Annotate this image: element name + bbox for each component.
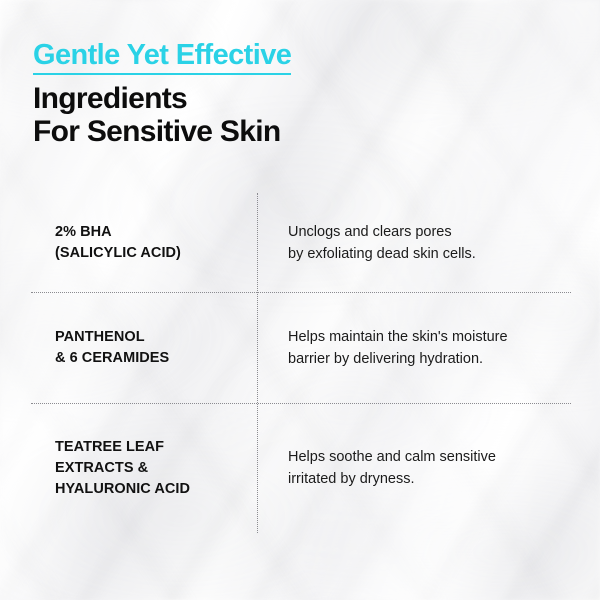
- ingredient-description-cell: Helps maintain the skin's moisture barri…: [257, 292, 600, 403]
- ingredients-infographic-poster: Gentle Yet Effective Ingredients For Sen…: [0, 0, 600, 600]
- ingredient-description-line: barrier by delivering hydration.: [288, 348, 582, 370]
- ingredient-name-cell: TEATREE LEAF EXTRACTS & HYALURONIC ACID: [0, 403, 257, 533]
- ingredient-name-line: TEATREE LEAF: [55, 437, 247, 458]
- headline-main: Ingredients For Sensitive Skin: [33, 82, 573, 148]
- ingredient-description-line: Helps maintain the skin's moisture: [288, 326, 582, 348]
- ingredient-name-line: HYALURONIC ACID: [55, 479, 247, 500]
- ingredient-description-line: by exfoliating dead skin cells.: [288, 243, 582, 265]
- ingredients-table: 2% BHA (SALICYLIC ACID) Unclogs and clea…: [0, 193, 600, 533]
- ingredient-name-line: & 6 CERAMIDES: [55, 348, 247, 369]
- ingredient-name-line: EXTRACTS &: [55, 458, 247, 479]
- headline-line-1: Ingredients: [33, 82, 573, 115]
- ingredient-name-line: (SALICYLIC ACID): [55, 243, 247, 264]
- table-row: 2% BHA (SALICYLIC ACID) Unclogs and clea…: [0, 193, 600, 292]
- ingredient-name-line: 2% BHA: [55, 222, 247, 243]
- ingredient-name-cell: 2% BHA (SALICYLIC ACID): [0, 193, 257, 292]
- ingredient-description-line: Helps soothe and calm sensitive: [288, 446, 582, 468]
- table-row: TEATREE LEAF EXTRACTS & HYALURONIC ACID …: [0, 403, 600, 533]
- headline-eyebrow: Gentle Yet Effective: [33, 38, 291, 75]
- ingredient-name-cell: PANTHENOL & 6 CERAMIDES: [0, 292, 257, 403]
- page-title: Gentle Yet Effective Ingredients For Sen…: [33, 38, 573, 148]
- headline-line-2: For Sensitive Skin: [33, 115, 573, 148]
- ingredient-description-cell: Unclogs and clears pores by exfoliating …: [257, 193, 600, 292]
- ingredient-name-line: PANTHENOL: [55, 327, 247, 348]
- table-row: PANTHENOL & 6 CERAMIDES Helps maintain t…: [0, 292, 600, 403]
- poster-content: Gentle Yet Effective Ingredients For Sen…: [0, 0, 600, 600]
- ingredient-description-line: irritated by dryness.: [288, 468, 582, 490]
- ingredient-description-line: Unclogs and clears pores: [288, 221, 582, 243]
- ingredient-description-cell: Helps soothe and calm sensitive irritate…: [257, 403, 600, 533]
